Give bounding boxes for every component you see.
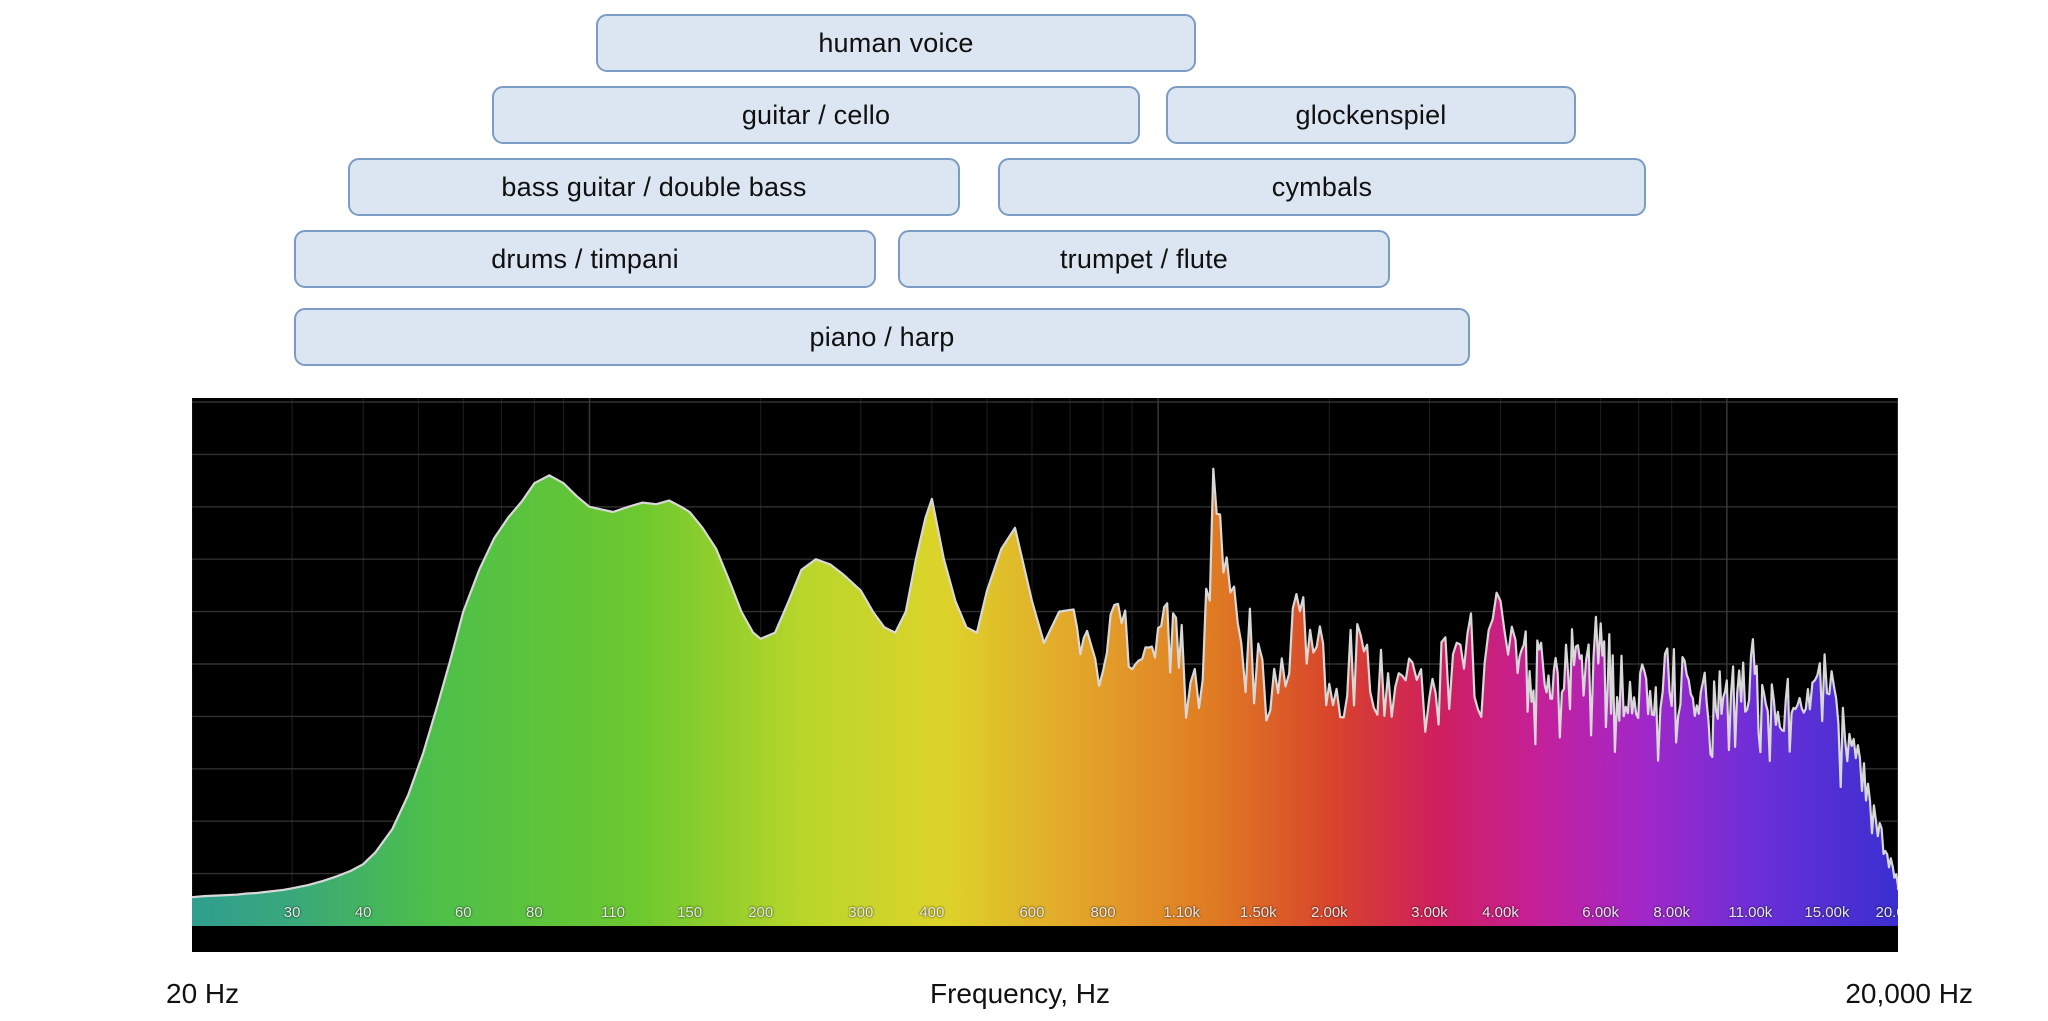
frequency-tick-label: 2.00k	[1311, 904, 1348, 921]
instrument-band-box[interactable]: drums / timpani	[294, 230, 876, 288]
instrument-band-label: bass guitar / double bass	[501, 172, 806, 203]
frequency-tick-label: 4.00k	[1482, 904, 1519, 921]
frequency-tick-label: 20.00k	[1875, 904, 1898, 921]
frequency-tick-label: 15.00k	[1804, 904, 1849, 921]
instrument-band-box[interactable]: bass guitar / double bass	[348, 158, 960, 216]
axis-title-label: Frequency, Hz	[930, 978, 1110, 1010]
instrument-band-box[interactable]: trumpet / flute	[898, 230, 1390, 288]
frequency-tick-label: 150	[677, 904, 702, 921]
instrument-band-label: guitar / cello	[742, 100, 890, 131]
instrument-band-box[interactable]: guitar / cello	[492, 86, 1140, 144]
instrument-band-label: glockenspiel	[1296, 100, 1447, 131]
instrument-band-box[interactable]: cymbals	[998, 158, 1646, 216]
instrument-band-label: cymbals	[1272, 172, 1372, 203]
frequency-tick-label: 6.00k	[1582, 904, 1619, 921]
frequency-tick-label: 110	[601, 904, 625, 921]
frequency-tick-label: 8.00k	[1653, 904, 1690, 921]
instrument-band-label: trumpet / flute	[1060, 244, 1228, 275]
frequency-tick-label: 1.50k	[1240, 904, 1277, 921]
instrument-band-box[interactable]: piano / harp	[294, 308, 1470, 366]
frequency-tick-label: 40	[355, 904, 372, 921]
frequency-tick-label: 80	[526, 904, 543, 921]
instrument-band-label: piano / harp	[809, 322, 954, 353]
instrument-band-label: human voice	[818, 28, 973, 59]
instrument-band-box[interactable]: glockenspiel	[1166, 86, 1576, 144]
frequency-tick-label: 30	[284, 904, 301, 921]
instrument-band-box[interactable]: human voice	[596, 14, 1196, 72]
frequency-tick-label: 60	[455, 904, 472, 921]
frequency-tick-label: 300	[848, 904, 873, 921]
frequency-tick-label: 200	[748, 904, 773, 921]
spectrum-fill-area	[192, 469, 1898, 926]
frequency-tick-label: 3.00k	[1411, 904, 1448, 921]
frequency-tick-label: 400	[919, 904, 944, 921]
audio-spectrum-panel: 304060801101502003004006008001.10k1.50k2…	[192, 398, 1898, 952]
frequency-tick-label: 600	[1019, 904, 1044, 921]
frequency-tick-label: 800	[1091, 904, 1116, 921]
axis-min-label: 20 Hz	[166, 978, 239, 1010]
axis-footer-bar	[192, 926, 1898, 952]
spectrum-chart	[192, 398, 1898, 952]
instrument-band-label: drums / timpani	[491, 244, 679, 275]
frequency-tick-labels: 304060801101502003004006008001.10k1.50k2…	[192, 904, 1898, 926]
frequency-tick-label: 11.00k	[1728, 904, 1772, 921]
frequency-tick-label: 1.10k	[1163, 904, 1200, 921]
axis-max-label: 20,000 Hz	[1845, 978, 1973, 1010]
slide-canvas: human voiceguitar / celloglockenspielbas…	[0, 0, 2048, 1021]
